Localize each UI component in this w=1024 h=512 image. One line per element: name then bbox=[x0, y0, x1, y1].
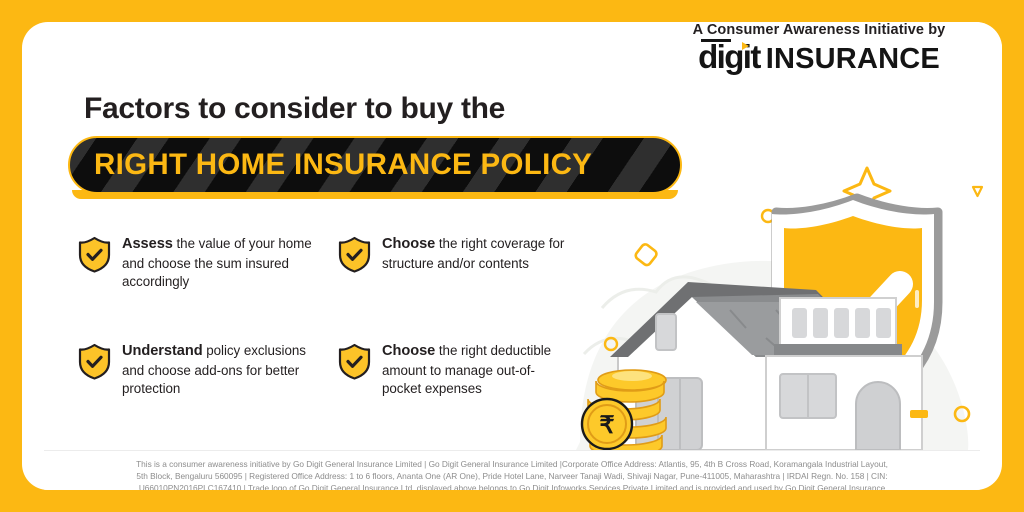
triangle-icon bbox=[973, 187, 982, 196]
logo-digit-text: digit bbox=[698, 40, 760, 73]
bullet-lead: Choose bbox=[382, 343, 435, 359]
bullet-item: Assess the value of your home and choose… bbox=[78, 235, 313, 291]
logo-triangle-icon bbox=[742, 42, 749, 50]
disclaimer-line: U66010PN2016PLC167410 | Trade logo of Go… bbox=[74, 482, 950, 490]
bullet-lead: Assess bbox=[122, 236, 173, 252]
bullet-text: Assess the value of your home and choose… bbox=[122, 235, 313, 291]
logo-digit-label: digit bbox=[698, 38, 760, 75]
shield-check-icon bbox=[78, 236, 111, 273]
bullet-text: Choose the right deductible amount to ma… bbox=[382, 342, 573, 398]
logo-wordmark: digit INSURANCE bbox=[654, 40, 984, 74]
headline-banner: RIGHT HOME INSURANCE POLICY bbox=[68, 136, 682, 194]
door bbox=[856, 382, 900, 450]
shield-highlight bbox=[915, 290, 919, 308]
bullet-text: Choose the right coverage for structure … bbox=[382, 235, 573, 273]
shield-check-icon bbox=[338, 343, 371, 380]
bullet-lead: Choose bbox=[382, 236, 435, 252]
logo-insurance-label: INSURANCE bbox=[766, 45, 940, 74]
bullet-item: Choose the right coverage for structure … bbox=[338, 235, 573, 273]
shield-check-icon bbox=[338, 236, 371, 273]
bullet-item: Choose the right deductible amount to ma… bbox=[338, 342, 573, 398]
diamond-icon bbox=[634, 243, 658, 267]
bullet-lead: Understand bbox=[122, 343, 203, 359]
rupee-symbol: ₹ bbox=[599, 412, 614, 439]
bullet-text: Understand policy exclusions and choose … bbox=[122, 342, 313, 398]
logo-tagline: A Consumer Awareness Initiative by bbox=[654, 22, 984, 38]
banner-title: RIGHT HOME INSURANCE POLICY bbox=[70, 148, 592, 182]
poster-card: ₹ Factors to consider to buy the RIGHT H… bbox=[22, 22, 1002, 490]
shield-check-icon bbox=[78, 343, 111, 380]
window bbox=[656, 314, 676, 350]
dormer-windows bbox=[792, 308, 891, 338]
accent-bar bbox=[910, 410, 928, 418]
page-title: Factors to consider to buy the bbox=[84, 92, 505, 126]
brand-logo: A Consumer Awareness Initiative by digit… bbox=[654, 22, 984, 74]
bullet-item: Understand policy exclusions and choose … bbox=[78, 342, 313, 398]
disclaimer-line: This is a consumer awareness initiative … bbox=[74, 458, 950, 470]
disclaimer-text: This is a consumer awareness initiative … bbox=[44, 450, 980, 490]
disclaimer-line: 5th Block, Bengaluru 560095 | Registered… bbox=[74, 470, 950, 482]
logo-overbar bbox=[701, 39, 731, 42]
